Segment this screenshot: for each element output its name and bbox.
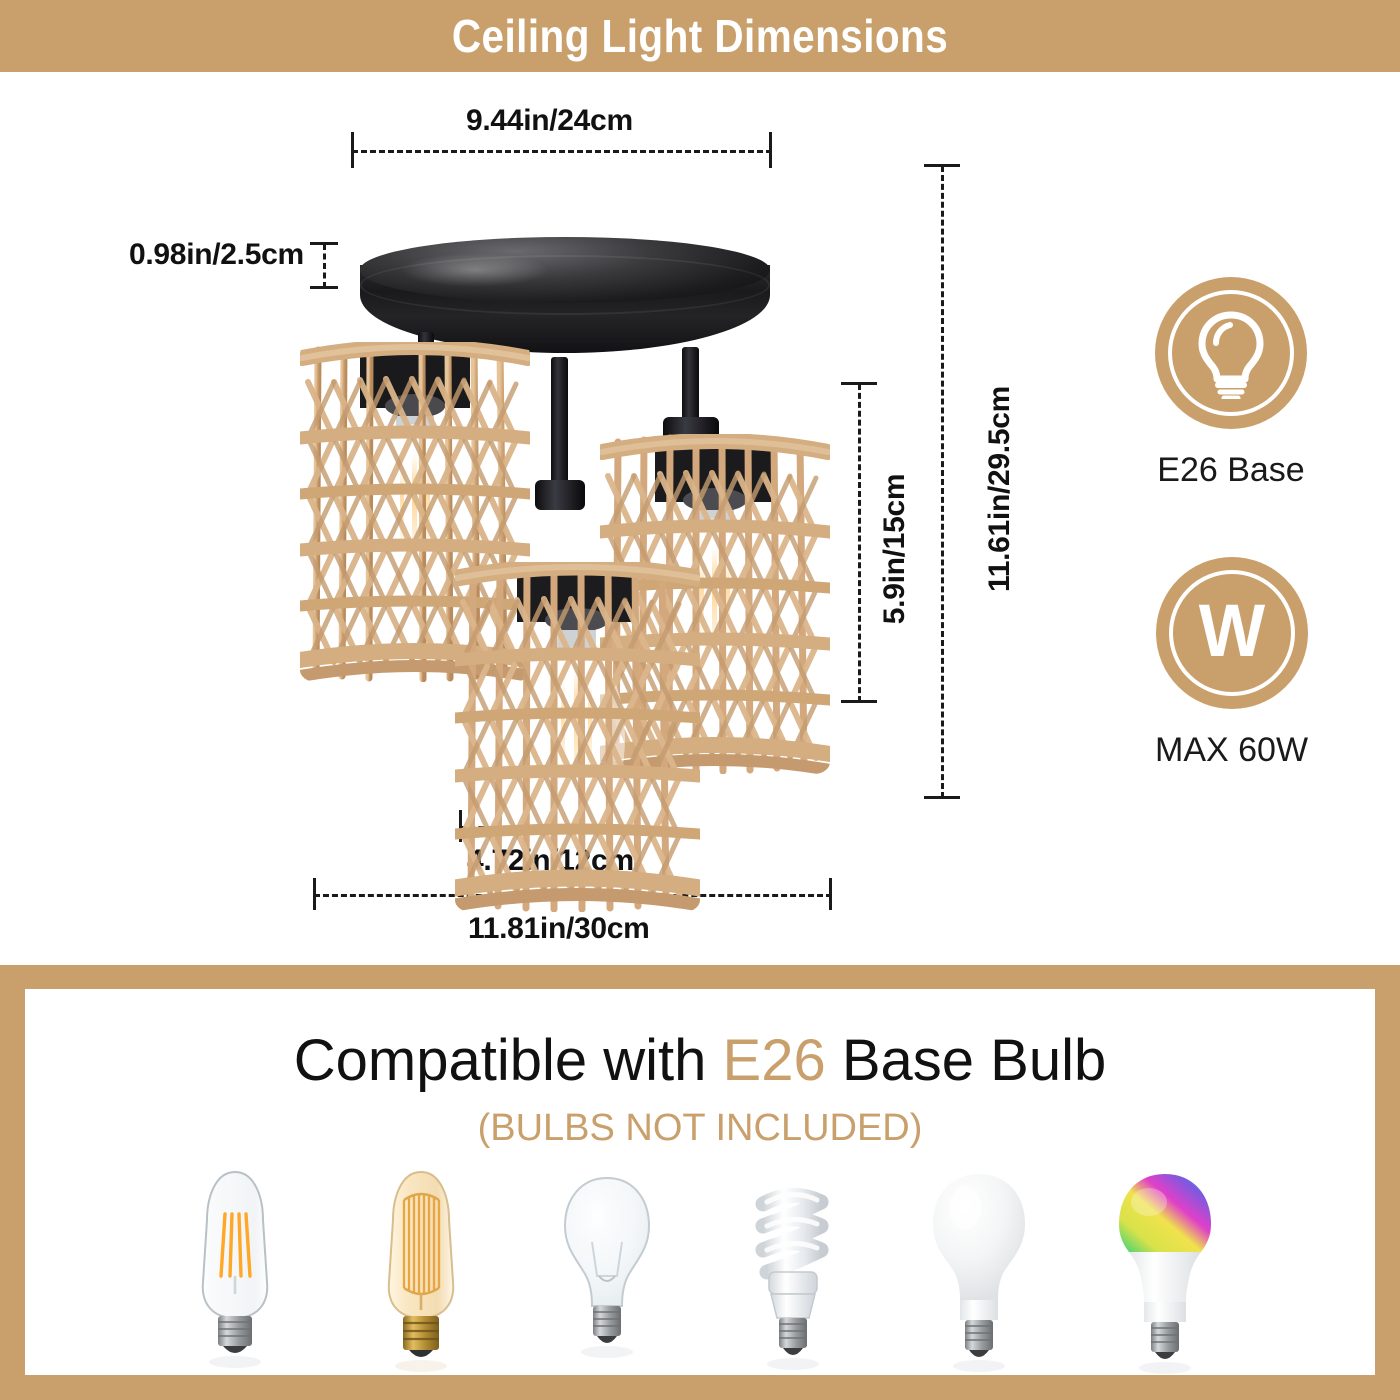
header-band: Ceiling Light Dimensions (0, 0, 1400, 72)
bulb-gallery (25, 1159, 1375, 1374)
compatibility-subtitle: (BULBS NOT INCLUDED) (25, 1107, 1375, 1150)
compat-heading-after: Base Bulb (826, 1028, 1107, 1093)
bulb-rgb-smart (1105, 1164, 1225, 1374)
dim-label-shade-height: 5.9in/15cm (878, 439, 912, 659)
badge-circle-wattage: W (1156, 557, 1308, 709)
bulb-led-filament-st64 (175, 1164, 295, 1374)
dim-label-total-height: 11.61in/29.5cm (983, 344, 1017, 634)
badge-label-wattage: MAX 60W (1155, 731, 1308, 770)
bulb-cfl-spiral (733, 1164, 853, 1374)
bulb-clear-incandescent (547, 1164, 667, 1374)
socket-left (535, 480, 585, 510)
dimensions-panel: 9.44in/24cm 0.98in/2.5cm 5.9in/15cm 11.6… (0, 72, 1400, 965)
compat-heading-before: Compatible with (294, 1028, 723, 1093)
badge-circle-e26 (1155, 277, 1307, 429)
bulb-vintage-edison-st64 (361, 1164, 481, 1374)
bulb-frosted-led-a19 (919, 1164, 1039, 1374)
badge-e26-base: E26 Base (1155, 277, 1307, 490)
badge-label-e26: E26 Base (1157, 451, 1304, 490)
compatibility-panel: Compatible with E26 Base Bulb (BULBS NOT… (0, 965, 1400, 1400)
infographic-stage: Ceiling Light Dimensions 9.44in/24cm 0.9… (0, 0, 1400, 1400)
compat-heading-accent: E26 (723, 1028, 826, 1093)
badge-max-wattage: W MAX 60W (1155, 557, 1308, 770)
compatibility-heading: Compatible with E26 Base Bulb (25, 1027, 1375, 1094)
badge-ring (1168, 290, 1294, 416)
shade-center-weave (455, 562, 700, 912)
page-title: Ceiling Light Dimensions (452, 9, 948, 63)
stem-right (682, 347, 699, 425)
shade-center (455, 562, 700, 912)
watt-icon: W (1198, 594, 1264, 668)
compatibility-inner-card: Compatible with E26 Base Bulb (BULBS NOT… (25, 989, 1375, 1375)
dim-label-canopy-width: 9.44in/24cm (466, 104, 633, 138)
stem-left (551, 357, 568, 487)
ceiling-light-product-image (255, 162, 875, 922)
